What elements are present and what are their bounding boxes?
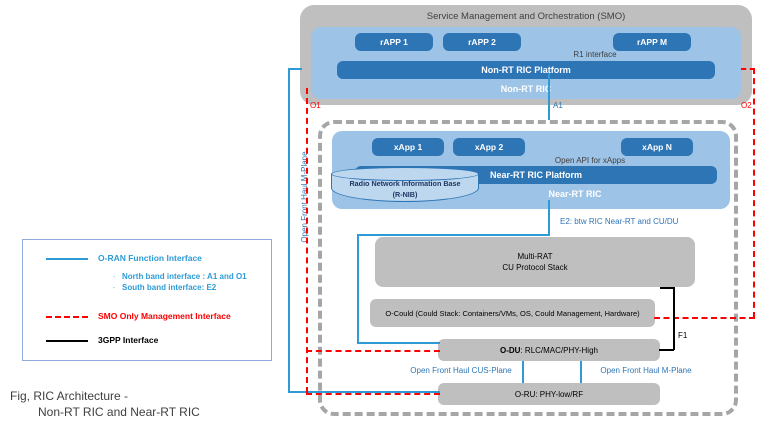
f1-interface-line xyxy=(673,287,675,350)
front-haul-cus-plane-label: Open Front Haul CUS-Plane xyxy=(400,365,522,377)
front-haul-m-plane-top-stub xyxy=(288,68,302,70)
front-haul-m-plane-vertical-label: Open Front Haul M-Plane xyxy=(298,137,312,257)
diagram-canvas: Service Management and Orchestration (SM… xyxy=(0,0,768,432)
rnib-label-line2: (R-NIB) xyxy=(393,190,418,199)
o1-interface-label: O1 xyxy=(310,100,340,112)
o1-branch-to-o-ru xyxy=(306,393,440,395)
o1-branch-to-o-du xyxy=(306,350,440,352)
legend-smo-label: SMO Only Management Interface xyxy=(98,309,278,323)
f1-interface-label: F1 xyxy=(678,330,698,342)
xapp-1-box[interactable]: xApp 1 xyxy=(372,138,444,156)
a1-interface-label: A1 xyxy=(553,100,583,112)
xapp-2-box[interactable]: xApp 2 xyxy=(453,138,525,156)
legend-south-band-label: South band interface: E2 xyxy=(122,282,282,294)
non-rt-ric-label: Non-RT RIC xyxy=(311,82,741,96)
o2-interface-label: O2 xyxy=(741,100,765,112)
o2-branch-to-o-cloud xyxy=(654,317,755,319)
front-haul-m-plane-vertical-line xyxy=(288,68,290,393)
rapp-1-box[interactable]: rAPP 1 xyxy=(355,33,433,51)
near-rt-ric-label: Near-RT RIC xyxy=(440,187,710,201)
o-ru-box[interactable]: O-RU: PHY-low/RF xyxy=(438,383,660,405)
f1-bottom-stub xyxy=(659,349,674,351)
legend-smo-line-swatch xyxy=(46,316,88,318)
o-du-bold-label: O-DU xyxy=(500,346,520,355)
rnib-label: Radio Network Information Base (R-NIB) xyxy=(333,178,477,202)
legend-3gpp-line-swatch xyxy=(46,340,88,342)
figure-caption-line2: Non-RT RIC and Near-RT RIC xyxy=(38,404,308,420)
o-du-box[interactable]: O-DU: RLC/MAC/PHY-High xyxy=(438,339,660,361)
smo-title: Service Management and Orchestration (SM… xyxy=(300,9,752,25)
legend-oran-label: O-RAN Function Interface xyxy=(98,251,258,265)
r1-interface-label: R1 interface xyxy=(540,49,650,61)
e2-line-horizontal-lower xyxy=(357,342,440,344)
f1-top-stub xyxy=(660,287,674,289)
o1-interface-line xyxy=(306,88,308,393)
legend-south-bullet-icon: · xyxy=(110,282,118,294)
legend-oran-line-swatch xyxy=(46,258,88,260)
figure-caption-line1: Fig, RIC Architecture - xyxy=(10,388,280,404)
non-rt-ric-platform-box[interactable]: Non-RT RIC Platform xyxy=(337,61,715,79)
o-du-rest-label: : RLC/MAC/PHY-High xyxy=(520,346,598,355)
cu-line2: CU Protocol Stack xyxy=(502,263,567,272)
e2-interface-label: E2: btw RIC Near-RT and CU/DU xyxy=(560,216,750,228)
front-haul-cus-connector xyxy=(522,361,524,383)
o-cloud-box[interactable]: O-Could (Could Stack: Containers/VMs, OS… xyxy=(370,299,655,327)
cu-line1: Multi-RAT xyxy=(518,252,553,261)
e2-line-horizontal-upper xyxy=(357,234,550,236)
a1-interface-line xyxy=(548,73,550,120)
o2-top-stub xyxy=(741,68,755,70)
cu-protocol-stack-box[interactable]: Multi-RAT CU Protocol Stack xyxy=(375,237,695,287)
front-haul-m-plane-label: Open Front Haul M-Plane xyxy=(582,365,710,377)
rnib-label-line1: Radio Network Information Base xyxy=(349,179,460,188)
legend-3gpp-label: 3GPP Interface xyxy=(98,333,258,347)
xapp-n-box[interactable]: xApp N xyxy=(621,138,693,156)
rapp-2-box[interactable]: rAPP 2 xyxy=(443,33,521,51)
e2-line-vertical-left xyxy=(357,234,359,344)
e2-line-vertical-upper xyxy=(548,200,550,234)
